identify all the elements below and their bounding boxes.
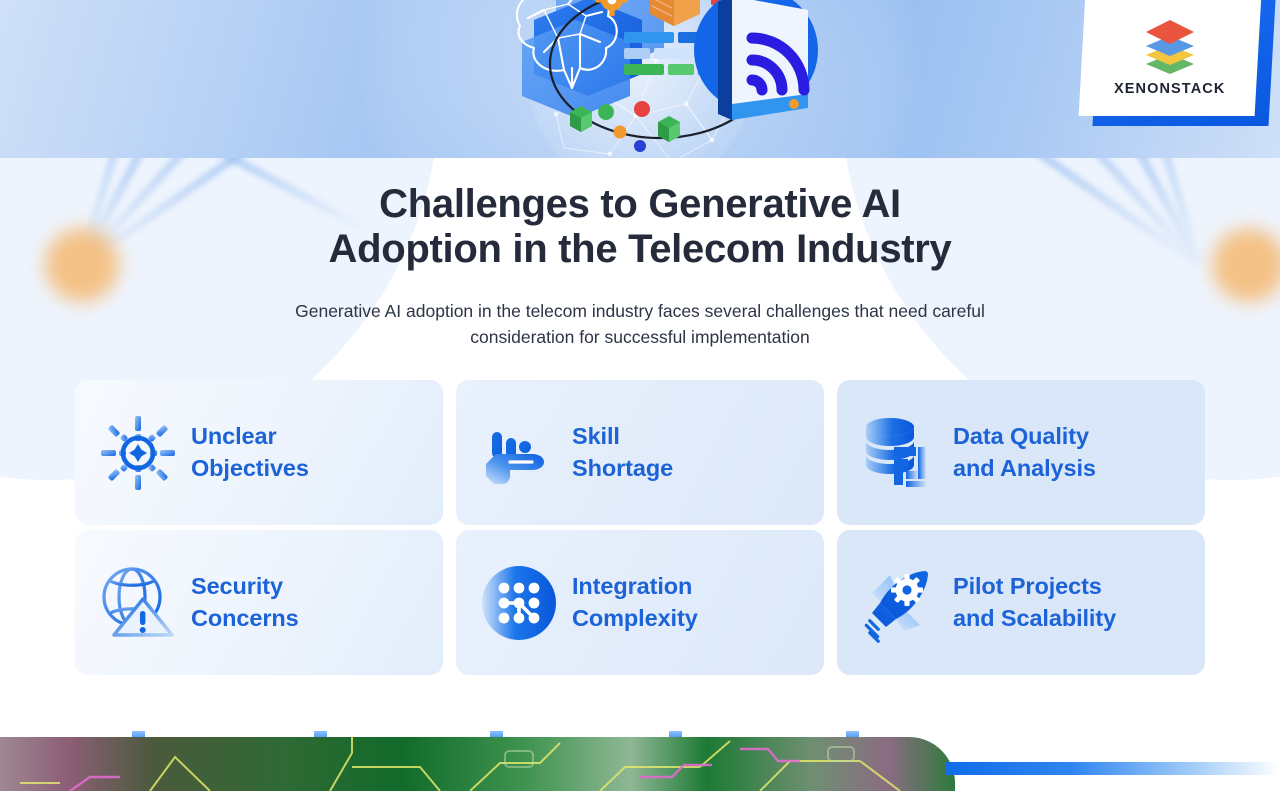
card-unclear-objectives[interactable]: Unclear Objectives [75, 380, 443, 525]
blue-dot [634, 140, 646, 152]
generative-ai-telecom-illustration [460, 0, 820, 158]
globe-warning-icon [95, 560, 181, 646]
card-skill-shortage[interactable]: Skill Shortage [456, 380, 824, 525]
page-subtitle: Generative AI adoption in the telecom in… [260, 298, 1020, 351]
radial-burst-target-icon [95, 410, 181, 496]
card-pilot-projects-and-scalability[interactable]: Pilot Projects and Scalability [837, 530, 1205, 675]
header-banner: XENONSTACK [0, 0, 1280, 158]
brand-logo[interactable]: XENONSTACK [1082, 0, 1268, 124]
infographic-page: XENONSTACK Challenges to Generative AI A… [0, 0, 1280, 791]
card-label: Integration Complexity [572, 571, 698, 634]
dot-grid-network-circle-icon [476, 560, 562, 646]
card-label: Pilot Projects and Scalability [953, 571, 1116, 634]
card-data-quality-and-analysis[interactable]: Data Quality and Analysis [837, 380, 1205, 525]
green-dot [598, 104, 614, 120]
card-label: Data Quality and Analysis [953, 421, 1096, 484]
blue-gradient-bar [945, 762, 1280, 775]
circuit-board-photo-strip [0, 737, 955, 791]
stacked-layers-logo-icon [1138, 14, 1202, 78]
hero-illustration [460, 0, 820, 158]
logo-card: XENONSTACK [1079, 0, 1262, 116]
orange-dot [614, 126, 627, 139]
tablet-signal-icon [718, 0, 808, 120]
card-integration-complexity[interactable]: Integration Complexity [456, 530, 824, 675]
logo-text: XENONSTACK [1114, 81, 1225, 97]
card-label: Skill Shortage [572, 421, 673, 484]
pcb-image [0, 737, 955, 791]
rocket-gear-icon [857, 560, 943, 646]
page-title: Challenges to Generative AI Adoption in … [0, 182, 1280, 272]
card-label: Security Concerns [191, 571, 299, 634]
hand-skill-bars-icon [476, 410, 562, 496]
database-bar-chart-icon [857, 410, 943, 496]
red-dot [634, 101, 650, 117]
challenges-grid: Unclear Objectives Skill Sho [75, 380, 1205, 675]
card-label: Unclear Objectives [191, 421, 309, 484]
card-security-concerns[interactable]: Security Concerns [75, 530, 443, 675]
